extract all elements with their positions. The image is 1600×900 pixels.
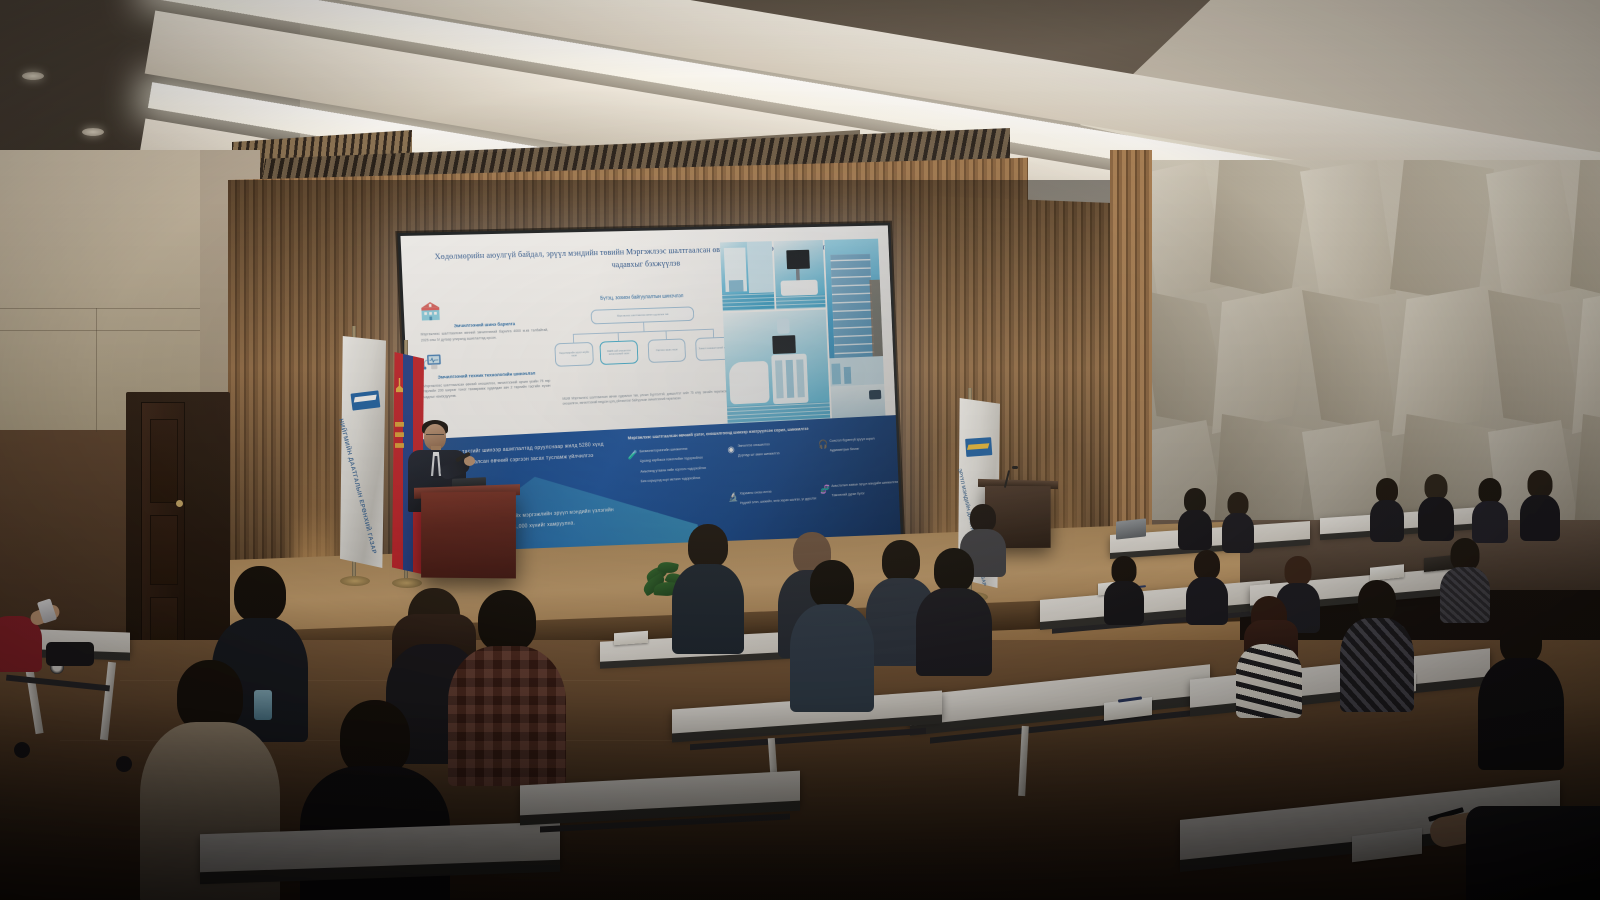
audience-person-striped	[1236, 596, 1302, 716]
audience-person	[1104, 556, 1144, 620]
icon-col-1-item-3: Био сорьцонд хорт металл тодорхойлох	[641, 475, 725, 485]
hospital-building-icon	[419, 301, 441, 322]
organization-logo-left-icon	[351, 390, 382, 419]
open-door[interactable]	[141, 402, 185, 654]
icon-col-5-heading: Амьсгалын замын эрүүл мэндийн шинжилгээ	[831, 479, 901, 489]
icon-column-2: ◉ Эмчилгээ оношилгоо Доргиур шт амин шин…	[738, 440, 820, 464]
notebook[interactable]	[614, 631, 648, 645]
left-body-1: Мэргэжлээс шалтгаалсан өвчний эмчилгээни…	[421, 328, 549, 343]
hospital-building-exterior-photo	[824, 239, 885, 422]
icon-col-5-item-1: Тамхичний дуран бүлэг	[832, 489, 901, 499]
icon-column-1: 🧪 Биомониторингийн шинжилгээ Цусанд карб…	[639, 445, 724, 490]
beaker-icon: 🧬	[820, 483, 830, 496]
audience-person	[1466, 806, 1600, 900]
mid-body: МШӨ Мэргэжлээс шалтгаалсан өвчин судлалы…	[562, 389, 728, 407]
test-tube-icon: 🧪	[627, 449, 638, 462]
icon-col-4-heading: Сонсгол бүрэнгүй эрүүл сорил	[829, 435, 900, 445]
audience-person-plaid	[448, 590, 566, 780]
caster-wheel	[14, 742, 30, 758]
water-bottle[interactable]	[254, 690, 272, 720]
microscope-icon: 🔬	[728, 491, 738, 504]
audience-person	[1186, 550, 1228, 620]
icon-column-4: 🎧 Сонсгол бүрэнгүй эрүүл сорил Аудиометр…	[829, 435, 900, 459]
flag-base-mongolia	[392, 578, 422, 588]
patient-room-photo	[720, 241, 775, 311]
slide-photo-collage	[720, 239, 886, 430]
medical-monitor-icon	[421, 352, 443, 373]
door-handle-icon[interactable]	[176, 500, 183, 507]
org-child-box-1: Хөдөлмөрийн эрүүл ахуйн тасаг	[554, 342, 594, 367]
icon-column-5: 🧬 Амьсгалын замын эрүүл мэндийн шинжилгэ…	[831, 479, 901, 503]
microphone-head-icon	[1012, 466, 1018, 469]
audience-person	[1478, 618, 1564, 768]
icon-col-2-item-1: Доргиур шт амин шинжилгээ	[738, 449, 820, 459]
org-child-box-2: МШӨ-ний оношилгоо эмчилгээний тасаг	[599, 340, 638, 365]
icon-col-3-item-1: Нүдний элэн, шижийн, янгө харах шалгах, …	[740, 496, 822, 506]
icon-column-3: 🔬 Харааны онош илгээ Нүдний элэн, шижийн…	[740, 487, 822, 512]
downlight-icon	[82, 128, 104, 136]
audience-person	[1440, 538, 1490, 618]
audience-person	[1472, 478, 1508, 540]
speaker-glasses-icon	[426, 434, 444, 439]
flag-base-left	[340, 576, 370, 586]
medical-equipment-photo	[723, 310, 830, 428]
icon-col-1-item-2: Амьсгалд утааны хийн хорлогч тодорхойлох	[640, 464, 724, 474]
audience-person	[1178, 488, 1212, 548]
audience-person	[916, 548, 992, 668]
examination-room-photo	[773, 240, 825, 309]
audience-person	[1520, 470, 1560, 538]
organization-logo-right-icon	[965, 437, 993, 465]
org-child-box-3: Сэргээн засах тасаг	[648, 338, 686, 363]
left-body-2: Мэргэжлээс шалтгаалсан өвчний оношилгоо,…	[423, 379, 551, 401]
audience-person	[672, 524, 744, 648]
camera-bag	[46, 642, 94, 666]
headphones-icon: 🎧	[818, 438, 828, 451]
slide-left-column: Эмчилгээний шинэ барилга Мэргэжлээс шалт…	[419, 298, 551, 401]
audience-person	[1418, 474, 1454, 538]
slide-mid-column: Бүтэц, зохион байгуулалтын шинэчлэл Мэрг…	[558, 292, 728, 407]
icon-col-1-heading: Биомониторингийн шинжилгээ	[639, 445, 723, 455]
audience-person	[790, 560, 874, 706]
caster-wheel	[116, 756, 132, 772]
conference-hall-photo: Хөдөлмөрийн аюулгүй байдал, эрүүл мэндий…	[0, 0, 1600, 900]
icon-col-1-item-1: Цусанд карбокси гемоглобин тодорхойлох	[640, 454, 724, 464]
audience-person	[1222, 492, 1254, 550]
icon-col-4-item-1: Аудиометрын бичлэг	[830, 444, 901, 454]
icon-col-3-heading: Харааны онош илгээ	[740, 487, 822, 498]
icon-col-2-heading: Эмчилгээ оношилгоо	[738, 440, 820, 450]
speaker-podium	[421, 492, 516, 579]
laptop[interactable]	[1116, 518, 1146, 539]
audience-person-patterned	[1340, 580, 1414, 710]
audience-person	[1370, 478, 1404, 540]
mid-heading: Бүтэц, зохион байгуулалтын шинэчлэл	[558, 292, 724, 303]
lung-function-icon: ◉	[726, 443, 736, 456]
downlight-icon	[22, 72, 44, 80]
